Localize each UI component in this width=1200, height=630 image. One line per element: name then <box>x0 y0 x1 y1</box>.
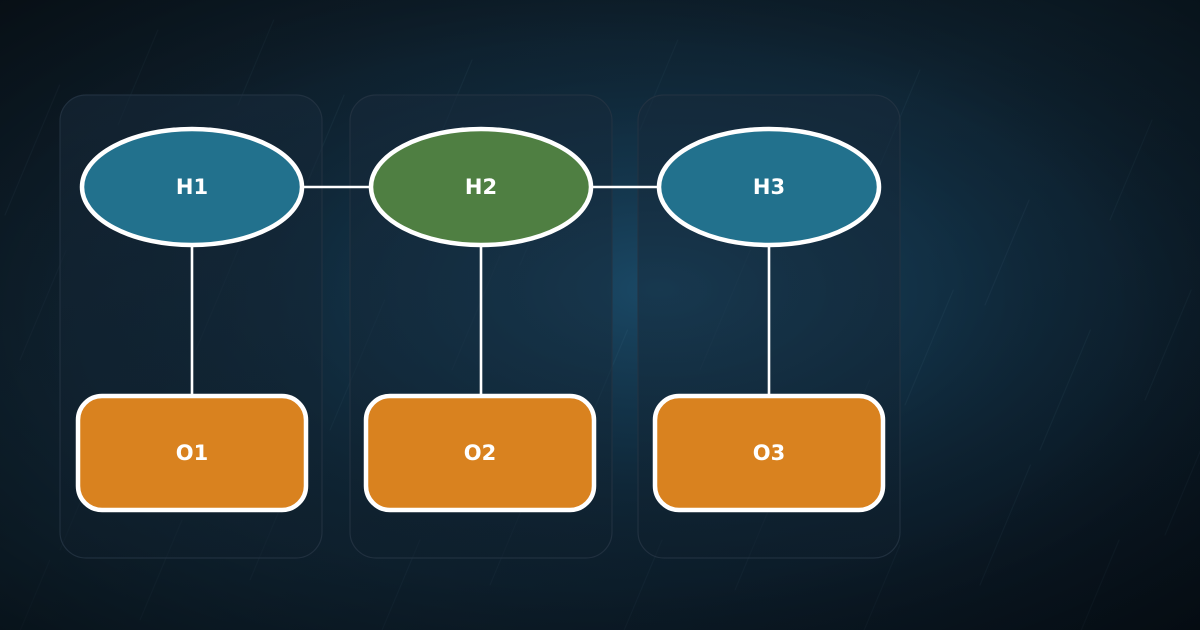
observed-node-label-o3: O3 <box>753 441 785 465</box>
diagram-canvas: H1H2H3O1O2O3 <box>0 0 1200 630</box>
graph-layer: H1H2H3O1O2O3 <box>0 0 1200 630</box>
hidden-node-label-h3: H3 <box>753 175 785 199</box>
observed-node-label-o1: O1 <box>176 441 208 465</box>
hidden-node-label-h1: H1 <box>176 175 208 199</box>
observed-node-label-o2: O2 <box>464 441 496 465</box>
hidden-node-label-h2: H2 <box>465 175 497 199</box>
